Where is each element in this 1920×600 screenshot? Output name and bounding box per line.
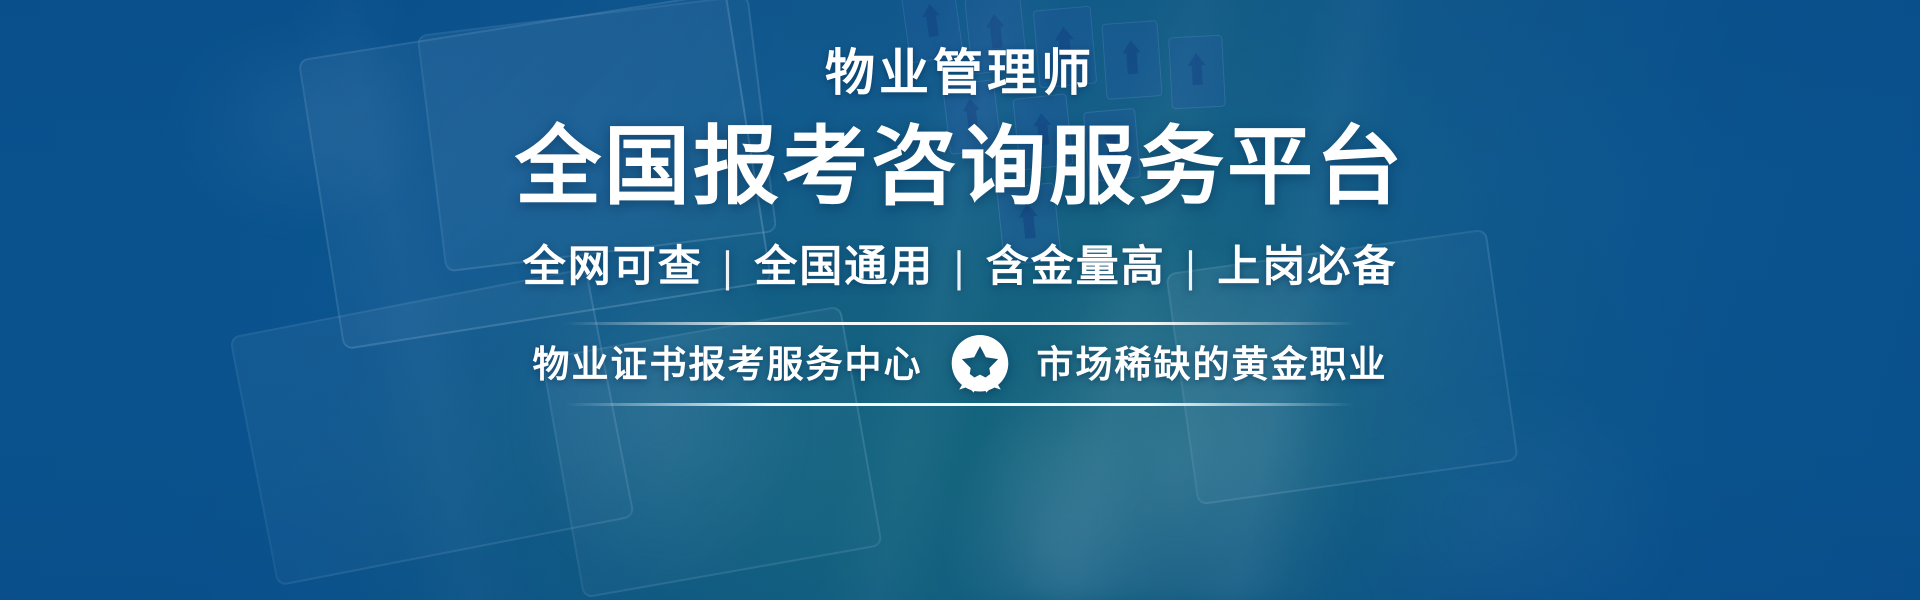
divider-bottom xyxy=(565,403,1355,406)
banner-content: 物业管理师 全国报考咨询服务平台 全网可查 | 全国通用 | 含金量高 | 上岗… xyxy=(0,0,1920,600)
feature-separator: | xyxy=(1184,248,1199,288)
banner-eyebrow: 物业管理师 xyxy=(825,48,1095,98)
feature-item-2: 全国通用 xyxy=(754,246,934,289)
promo-banner: 物业管理师 全国报考咨询服务平台 全网可查 | 全国通用 | 含金量高 | 上岗… xyxy=(0,0,1920,600)
footer-badge-row: 物业证书报考服务中心 市场稀缺的黄金职业 xyxy=(533,325,1388,403)
tagline-label: 市场稀缺的黄金职业 xyxy=(1037,346,1388,383)
feature-item-3: 含金量高 xyxy=(986,246,1166,289)
service-center-label: 物业证书报考服务中心 xyxy=(533,346,923,383)
feature-list: 全网可查 | 全国通用 | 含金量高 | 上岗必备 xyxy=(523,246,1397,289)
feature-item-4: 上岗必备 xyxy=(1217,246,1397,289)
feature-separator: | xyxy=(721,248,736,288)
award-medal-star-icon xyxy=(949,333,1011,395)
banner-headline: 全国报考咨询服务平台 xyxy=(515,124,1405,210)
feature-item-1: 全网可查 xyxy=(523,246,703,289)
feature-separator: | xyxy=(952,248,967,288)
